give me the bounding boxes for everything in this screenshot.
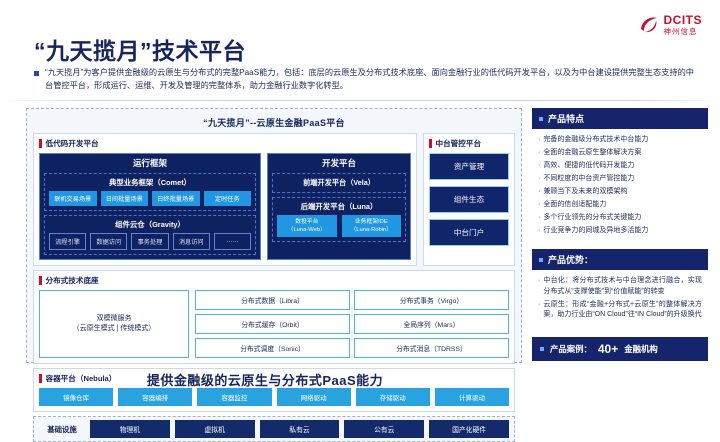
distbase-chip-grid: 分布式数据（Libra） 分布式事务（Virgo） 分布式缓存（Orbit） 全… xyxy=(195,290,509,358)
infrastructure-row: 基础设施 物理机 虚拟机 私有云 公有云 国产化硬件 xyxy=(33,416,515,442)
gravity-title: 组件云仓（Gravity） xyxy=(49,219,251,233)
back-dev-chip[interactable]: 业务框架IDE （Luna-Robin） xyxy=(342,215,401,237)
midctrl-section-label: 中台管控平台 xyxy=(436,138,482,149)
dot-icon: · xyxy=(538,226,540,237)
product-case-number: 40+ xyxy=(598,342,618,356)
product-advantages-list: ·中台化：将分布式技术与中台理念进行融合，实现分布式从“支撑使能”到“价值赋能”… xyxy=(532,270,708,329)
diagram-row-top: 低代码开发平台 运行框架 典型业务框架（Comet） 联机交易场景 日间批量场景… xyxy=(33,133,515,270)
square-marker-icon xyxy=(539,258,543,262)
gravity-chip[interactable]: 流程引擎 xyxy=(49,233,86,250)
distbase-section-label: 分布式技术底座 xyxy=(46,275,99,286)
list-item: ·完备的金融级分布式技术中台能力 xyxy=(538,135,702,146)
comet-chip[interactable]: 日间批量场景 xyxy=(101,191,149,206)
product-advantages-panel: 产品优势： ·中台化：将分布式技术与中台理念进行融合，实现分布式从“支撑使能”到… xyxy=(532,249,708,329)
back-dev-chip-row: 数投平台 （Luna-Web） 业务框架IDE （Luna-Robin） xyxy=(277,215,401,237)
front-dev-platform[interactable]: 前端开发平台（Vela） xyxy=(272,173,406,193)
gravity-group: 组件云仓（Gravity） 流程引擎 数据访问 事务处理 消息访问 …… xyxy=(44,215,256,255)
comet-title: 典型业务框架（Comet） xyxy=(49,177,251,191)
dot-icon: · xyxy=(538,300,540,321)
logo-text-cn: 神州信息 xyxy=(664,28,703,36)
dual-mode-microservice-cell: 双模微服务 （云原生模式 | 传统模式） xyxy=(39,290,189,358)
dot-icon: · xyxy=(538,213,540,224)
page-header: DCITS 神州信息 “九天揽月”技术平台 “九天揽月”为客户提供金融级的云原生… xyxy=(0,0,720,100)
gravity-chip[interactable]: 消息访问 xyxy=(173,233,210,250)
product-features-list: ·完备的金融级分布式技术中台能力 ·全面的金融云原生整体解决方案 ·高效、便捷的… xyxy=(532,129,708,245)
product-features-panel: 产品特点 ·完备的金融级分布式技术中台能力 ·全面的金融云原生整体解决方案 ·高… xyxy=(532,108,708,245)
dot-icon: · xyxy=(538,200,540,211)
square-marker-icon xyxy=(540,347,544,351)
lowcode-section-label: 低代码开发平台 xyxy=(46,138,99,149)
list-item: ·多个行业领先的分布式关键能力 xyxy=(538,213,702,224)
feature-text: 高效、便捷的低代码开发能力 xyxy=(543,161,634,172)
mid-control-panel: 中台管控平台 资产管理 组件生态 中台门户 xyxy=(423,133,515,266)
product-features-title: 产品特点 xyxy=(548,112,584,125)
product-features-header: 产品特点 xyxy=(532,108,708,129)
distbase-chip[interactable]: 分布式事务（Virgo） xyxy=(354,290,509,310)
right-sidebar: 产品特点 ·完备的金融级分布式技术中台能力 ·全面的金融云原生整体解决方案 ·高… xyxy=(532,108,708,361)
list-item: ·云原生：形成“金融+分布式+云原生”的整体解决方案，助力行业由“ON Clou… xyxy=(538,300,702,321)
square-bullet-icon xyxy=(34,71,39,76)
dot-icon: · xyxy=(538,174,540,185)
back-dev-platform-title: 后端开发平台（Luna） xyxy=(277,201,401,215)
header-divider xyxy=(0,100,720,101)
advantage-text: 中台化：将分布式技术与中台理念进行融合，实现分布式从“支撑使能”到“价值赋能”的… xyxy=(543,276,702,297)
container-chip[interactable]: 网络驱动 xyxy=(277,388,351,406)
container-chip[interactable]: 容器编排 xyxy=(118,388,192,406)
container-chip[interactable]: 镜像仓库 xyxy=(39,388,113,406)
back-dev-platform-group: 后端开发平台（Luna） 数投平台 （Luna-Web） 业务框架IDE （Lu… xyxy=(272,197,406,242)
distbase-chip[interactable]: 全局序列（Mars） xyxy=(354,314,509,334)
comet-chip[interactable]: 日终批量场景 xyxy=(152,191,200,206)
list-item: ·中台化：将分布式技术与中台理念进行融合，实现分布式从“支撑使能”到“价值赋能”… xyxy=(538,276,702,297)
section-tick-icon xyxy=(39,276,42,285)
product-advantages-header: 产品优势： xyxy=(532,249,708,270)
infra-chip[interactable]: 私有云 xyxy=(260,420,340,438)
product-advantages-title: 产品优势： xyxy=(548,253,593,266)
dcits-logo-icon xyxy=(638,14,660,36)
brand-logo: DCITS 神州信息 xyxy=(638,14,703,36)
distributed-base-panel: 分布式技术底座 双模微服务 （云原生模式 | 传统模式） 分布式数据（Libra… xyxy=(33,270,515,364)
feature-text: 不同粒度的中台资产管控能力 xyxy=(543,174,634,185)
distbase-chip[interactable]: 分布式调度（Sonic） xyxy=(195,338,350,358)
product-case-banner: 产品案例： 40+ 金融机构 xyxy=(532,337,708,361)
intro-paragraph: “九天揽月”为客户提供金融级的云原生与分布式的完整PaaS能力，包括：底层的云原… xyxy=(34,66,694,92)
distbase-chip[interactable]: 分布式消息（TDRSS） xyxy=(354,338,509,358)
list-item: ·兼顾当下及未来的双模架构 xyxy=(538,187,702,198)
list-item: ·行业竞争力的同城及异地多活能力 xyxy=(538,226,702,237)
dot-icon: · xyxy=(538,135,540,146)
list-item: ·不同粒度的中台资产管控能力 xyxy=(538,174,702,185)
dot-icon: · xyxy=(538,161,540,172)
lowcode-section-head: 低代码开发平台 xyxy=(39,138,411,149)
section-tick-icon xyxy=(39,139,42,148)
dual-mode-microservice-chip[interactable]: 双模微服务 （云原生模式 | 传统模式） xyxy=(39,290,189,358)
midctrl-item-component[interactable]: 组件生态 xyxy=(429,186,509,213)
distbase-chip[interactable]: 分布式数据（Libra） xyxy=(195,290,350,310)
midctrl-item-asset[interactable]: 资产管理 xyxy=(429,153,509,180)
infrastructure-label: 基础设施 xyxy=(39,424,85,435)
gravity-chip-row: 流程引擎 数据访问 事务处理 消息访问 …… xyxy=(49,233,251,250)
dot-icon: · xyxy=(538,187,540,198)
infra-chip[interactable]: 虚拟机 xyxy=(175,420,255,438)
dot-icon: · xyxy=(538,276,540,297)
product-case-suffix: 金融机构 xyxy=(624,343,658,355)
logo-text-en: DCITS xyxy=(664,14,703,26)
runtime-framework-box: 运行框架 典型业务框架（Comet） 联机交易场景 日间批量场景 日终批量场景 … xyxy=(39,153,261,260)
midctrl-section-head: 中台管控平台 xyxy=(429,138,509,149)
dev-platform-box: 开发平台 前端开发平台（Vela） 后端开发平台（Luna） 数投平台 （Lun… xyxy=(267,153,411,260)
comet-chip[interactable]: 定时任务 xyxy=(204,191,252,206)
infra-chip[interactable]: 物理机 xyxy=(90,420,170,438)
container-chip-row: 镜像仓库 容器编排 容器监控 网络驱动 存储驱动 计算驱动 xyxy=(39,388,509,406)
feature-text: 行业竞争力的同城及异地多活能力 xyxy=(543,226,648,237)
container-chip[interactable]: 容器监控 xyxy=(197,388,271,406)
lowcode-platform-panel: 低代码开发平台 运行框架 典型业务框架（Comet） 联机交易场景 日间批量场景… xyxy=(33,133,417,266)
infra-chip[interactable]: 公有云 xyxy=(344,420,424,438)
midctrl-item-portal[interactable]: 中台门户 xyxy=(429,219,509,246)
runtime-framework-title: 运行框架 xyxy=(40,154,260,173)
architecture-diagram: “九天揽月”--云原生金融PaaS平台 低代码开发平台 运行框架 典型业务框架（… xyxy=(26,108,522,363)
dot-icon: · xyxy=(538,148,540,159)
page-title: “九天揽月”技术平台 xyxy=(34,32,246,66)
feature-text: 全面的信创适配能力 xyxy=(543,200,606,211)
footer-tagline: 提供金融级的云原生与分布式PaaS能力 xyxy=(0,370,530,389)
feature-text: 全面的金融云原生整体解决方案 xyxy=(543,148,641,159)
distbase-chip[interactable]: 分布式缓存（Orbit） xyxy=(195,314,350,334)
advantage-text: 云原生：形成“金融+分布式+云原生”的整体解决方案，助力行业由“ON Cloud… xyxy=(543,300,702,321)
diagram-title: “九天揽月”--云原生金融PaaS平台 xyxy=(33,113,515,133)
comet-group: 典型业务框架（Comet） 联机交易场景 日间批量场景 日终批量场景 定时任务 xyxy=(44,173,256,211)
distbase-section-head: 分布式技术底座 xyxy=(39,275,509,286)
square-marker-icon xyxy=(539,117,543,121)
list-item: ·高效、便捷的低代码开发能力 xyxy=(538,161,702,172)
feature-text: 多个行业领先的分布式关键能力 xyxy=(543,213,641,224)
container-chip[interactable]: 存储驱动 xyxy=(356,388,430,406)
infra-chip[interactable]: 国产化硬件 xyxy=(429,420,509,438)
list-item: ·全面的信创适配能力 xyxy=(538,200,702,211)
distbase-row: 双模微服务 （云原生模式 | 传统模式） 分布式数据（Libra） 分布式事务（… xyxy=(39,290,509,358)
section-tick-icon xyxy=(429,139,432,148)
gravity-chip[interactable]: …… xyxy=(214,233,251,250)
gravity-chip[interactable]: 数据访问 xyxy=(90,233,127,250)
feature-text: 兼顾当下及未来的双模架构 xyxy=(543,187,627,198)
back-dev-chip[interactable]: 数投平台 （Luna-Web） xyxy=(277,215,336,237)
comet-chip-row: 联机交易场景 日间批量场景 日终批量场景 定时任务 xyxy=(49,191,251,206)
dev-platform-title: 开发平台 xyxy=(268,154,410,173)
intro-text: “九天揽月”为客户提供金融级的云原生与分布式的完整PaaS能力，包括：底层的云原… xyxy=(45,66,694,92)
container-chip[interactable]: 计算驱动 xyxy=(435,388,509,406)
comet-chip[interactable]: 联机交易场景 xyxy=(49,191,97,206)
product-case-label: 产品案例： xyxy=(550,343,592,355)
list-item: ·全面的金融云原生整体解决方案 xyxy=(538,148,702,159)
feature-text: 完备的金融级分布式技术中台能力 xyxy=(543,135,648,146)
gravity-chip[interactable]: 事务处理 xyxy=(131,233,168,250)
